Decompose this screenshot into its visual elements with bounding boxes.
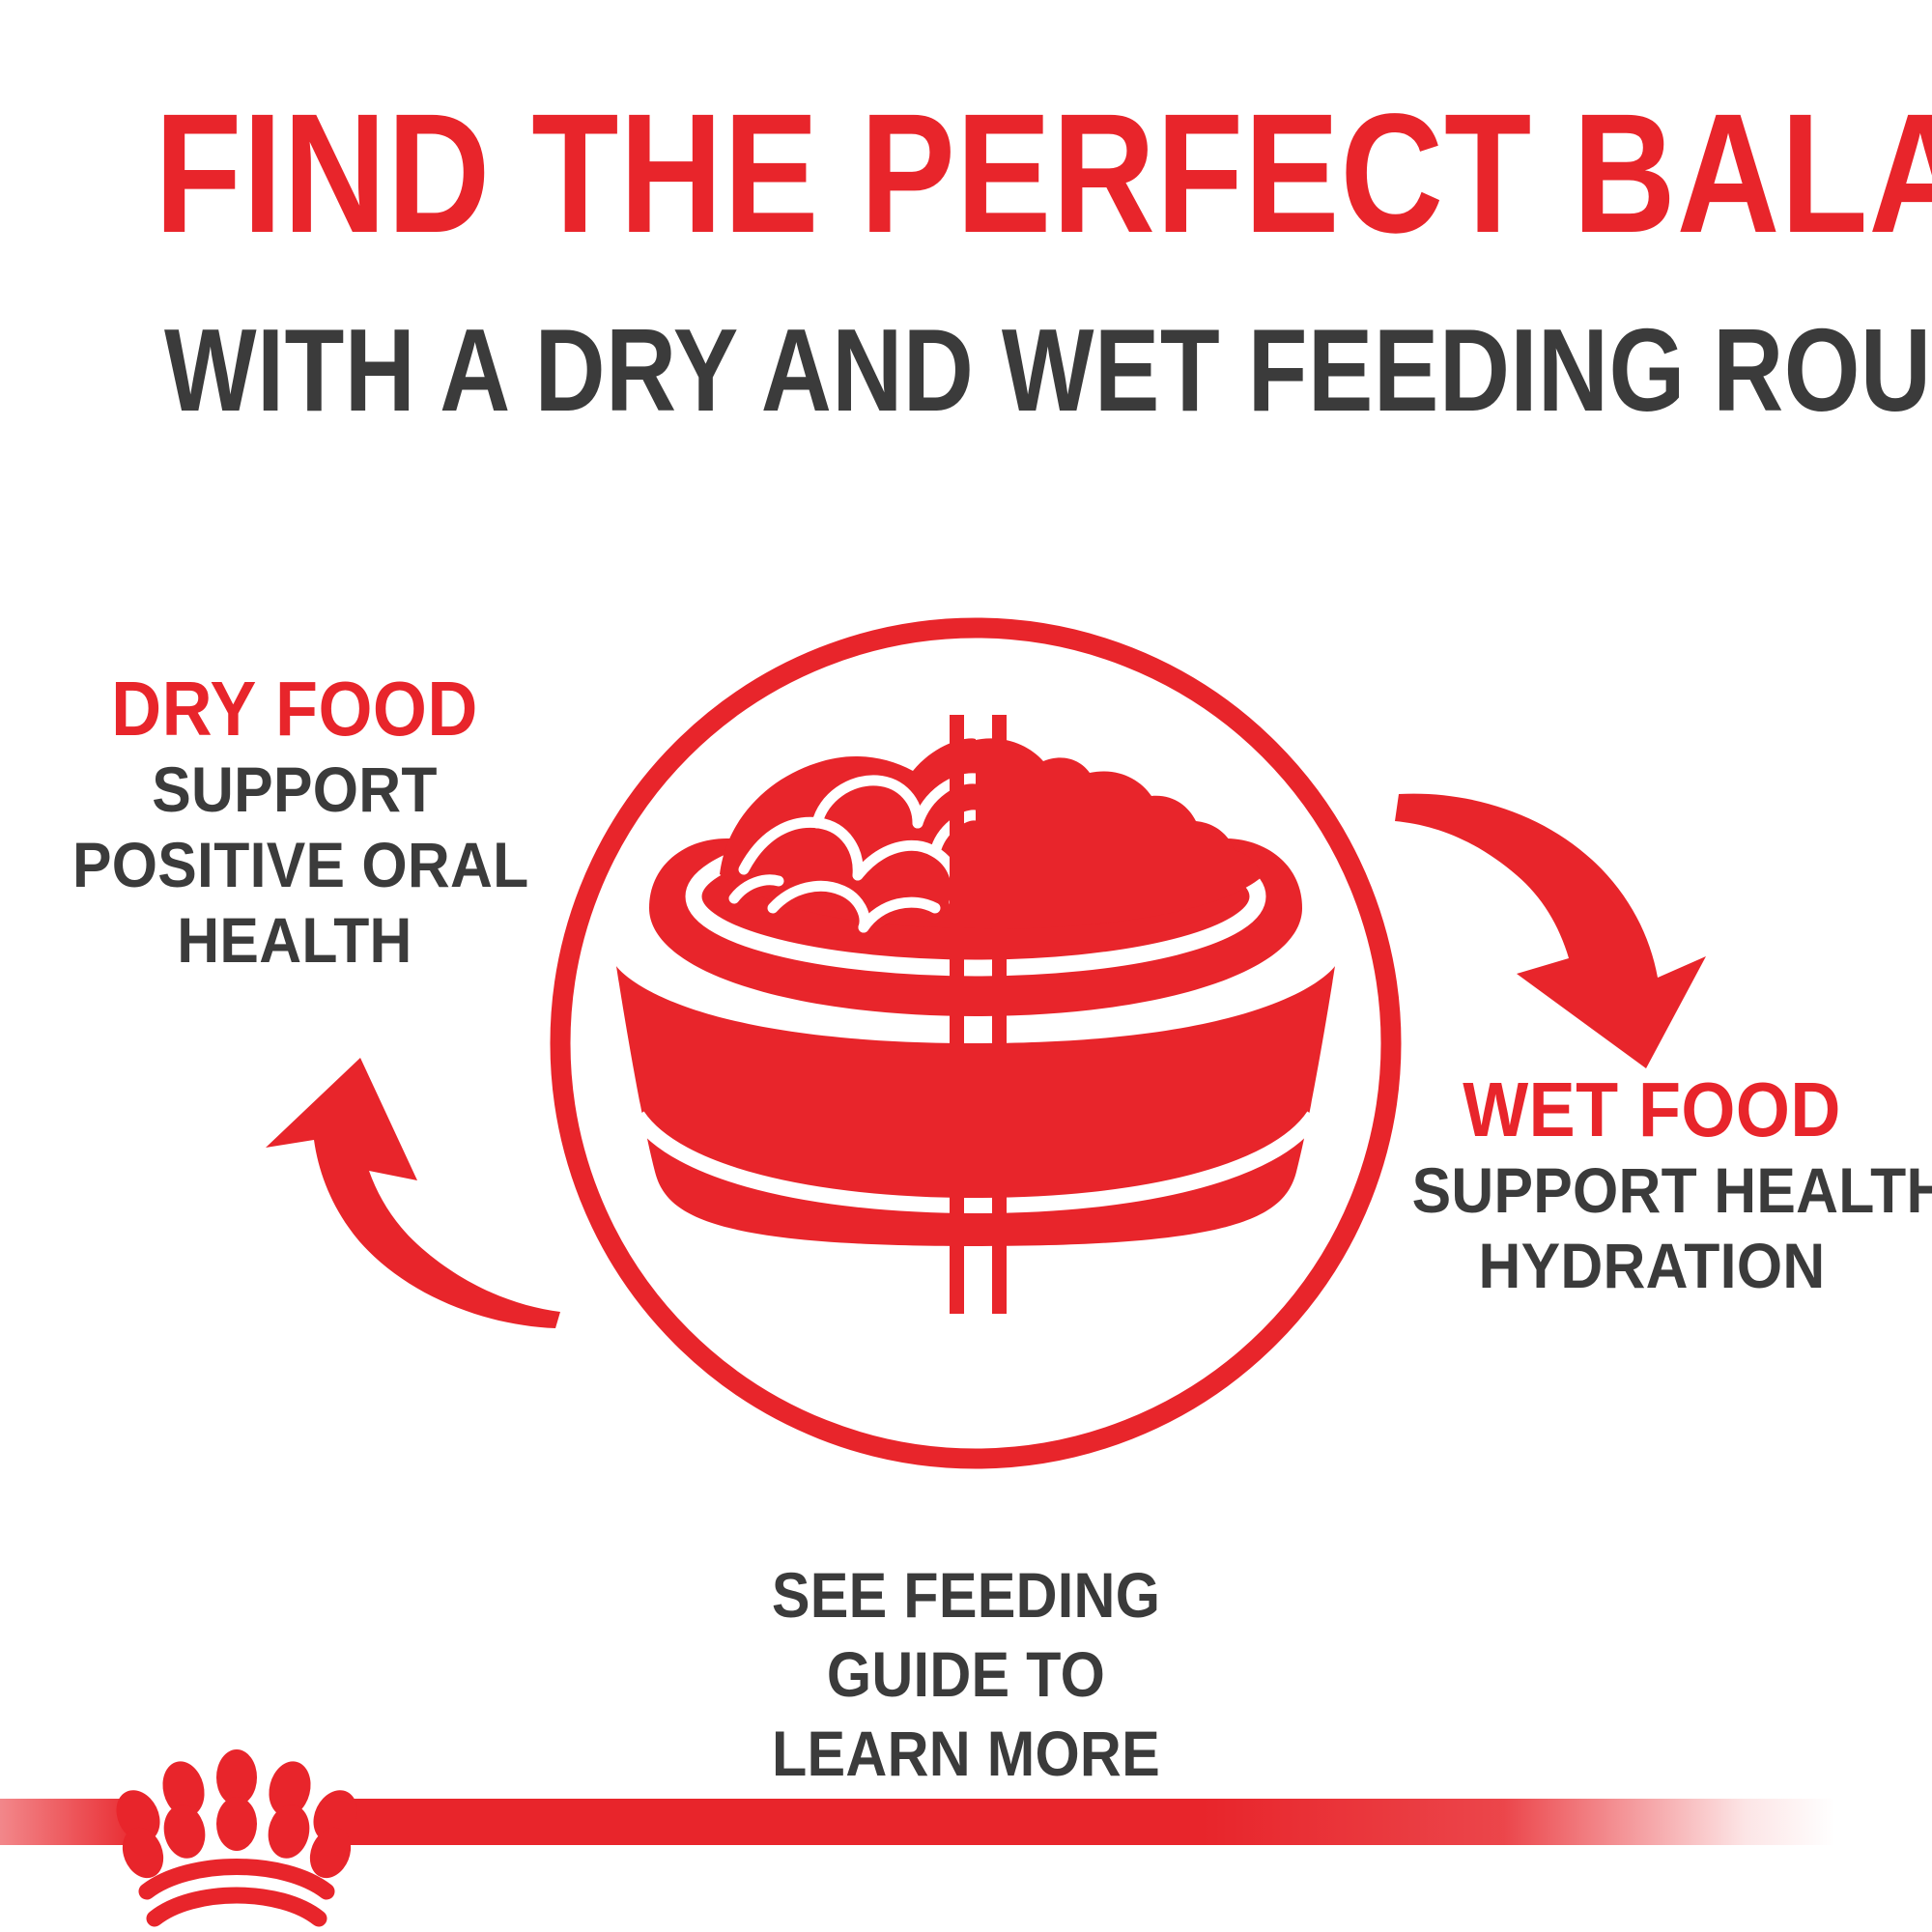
wet-food-body: SUPPORT HEALTHY HYDRATION	[1412, 1152, 1892, 1303]
wet-food-body-line-1: SUPPORT HEALTHY	[1412, 1152, 1892, 1228]
royal-canin-crown-logo	[108, 1749, 365, 1918]
dry-food-callout: DRY FOOD SUPPORT POSITIVE ORAL HEALTH	[53, 667, 536, 978]
wet-food-heading: WET FOOD	[1417, 1067, 1887, 1152]
bowl-upper-cone	[649, 838, 1302, 1016]
cta-line-1: SEE FEEDING	[618, 1555, 1314, 1634]
wet-food-body-line-2: HYDRATION	[1412, 1228, 1892, 1303]
split-pet-food-bowl-icon	[616, 715, 1335, 1314]
red-outline-circle	[560, 628, 1391, 1459]
dry-food-heading: DRY FOOD	[77, 667, 512, 752]
dry-food-body: SUPPORT POSITIVE ORAL HEALTH	[72, 752, 517, 978]
vertical-split-line	[950, 715, 1007, 1314]
curved-arrow-up-left	[266, 1058, 560, 1328]
bowl-foot-ring	[638, 1116, 1314, 1206]
wet-food-callout: WET FOOD SUPPORT HEALTHY HYDRATION	[1391, 1067, 1913, 1303]
bowl-body	[616, 966, 1335, 1246]
bowl-rim-highlight	[694, 825, 1258, 968]
cta-line-2: GUIDE TO	[618, 1634, 1314, 1714]
dry-kibble	[720, 738, 976, 927]
footer	[0, 1729, 1932, 1932]
curved-arrow-down-right	[1395, 794, 1706, 1068]
page-title: FIND THE PERFECT BALANCE	[155, 89, 1777, 259]
page-subtitle: WITH A DRY AND WET FEEDING ROUTINE	[164, 311, 1768, 429]
dry-food-body-line-2: POSITIVE ORAL	[72, 827, 517, 902]
wet-food-pate	[976, 738, 1262, 929]
red-gradient-bar	[328, 1799, 1835, 1845]
dry-food-body-line-3: HEALTH	[72, 902, 517, 978]
dry-food-body-line-1: SUPPORT	[72, 752, 517, 827]
